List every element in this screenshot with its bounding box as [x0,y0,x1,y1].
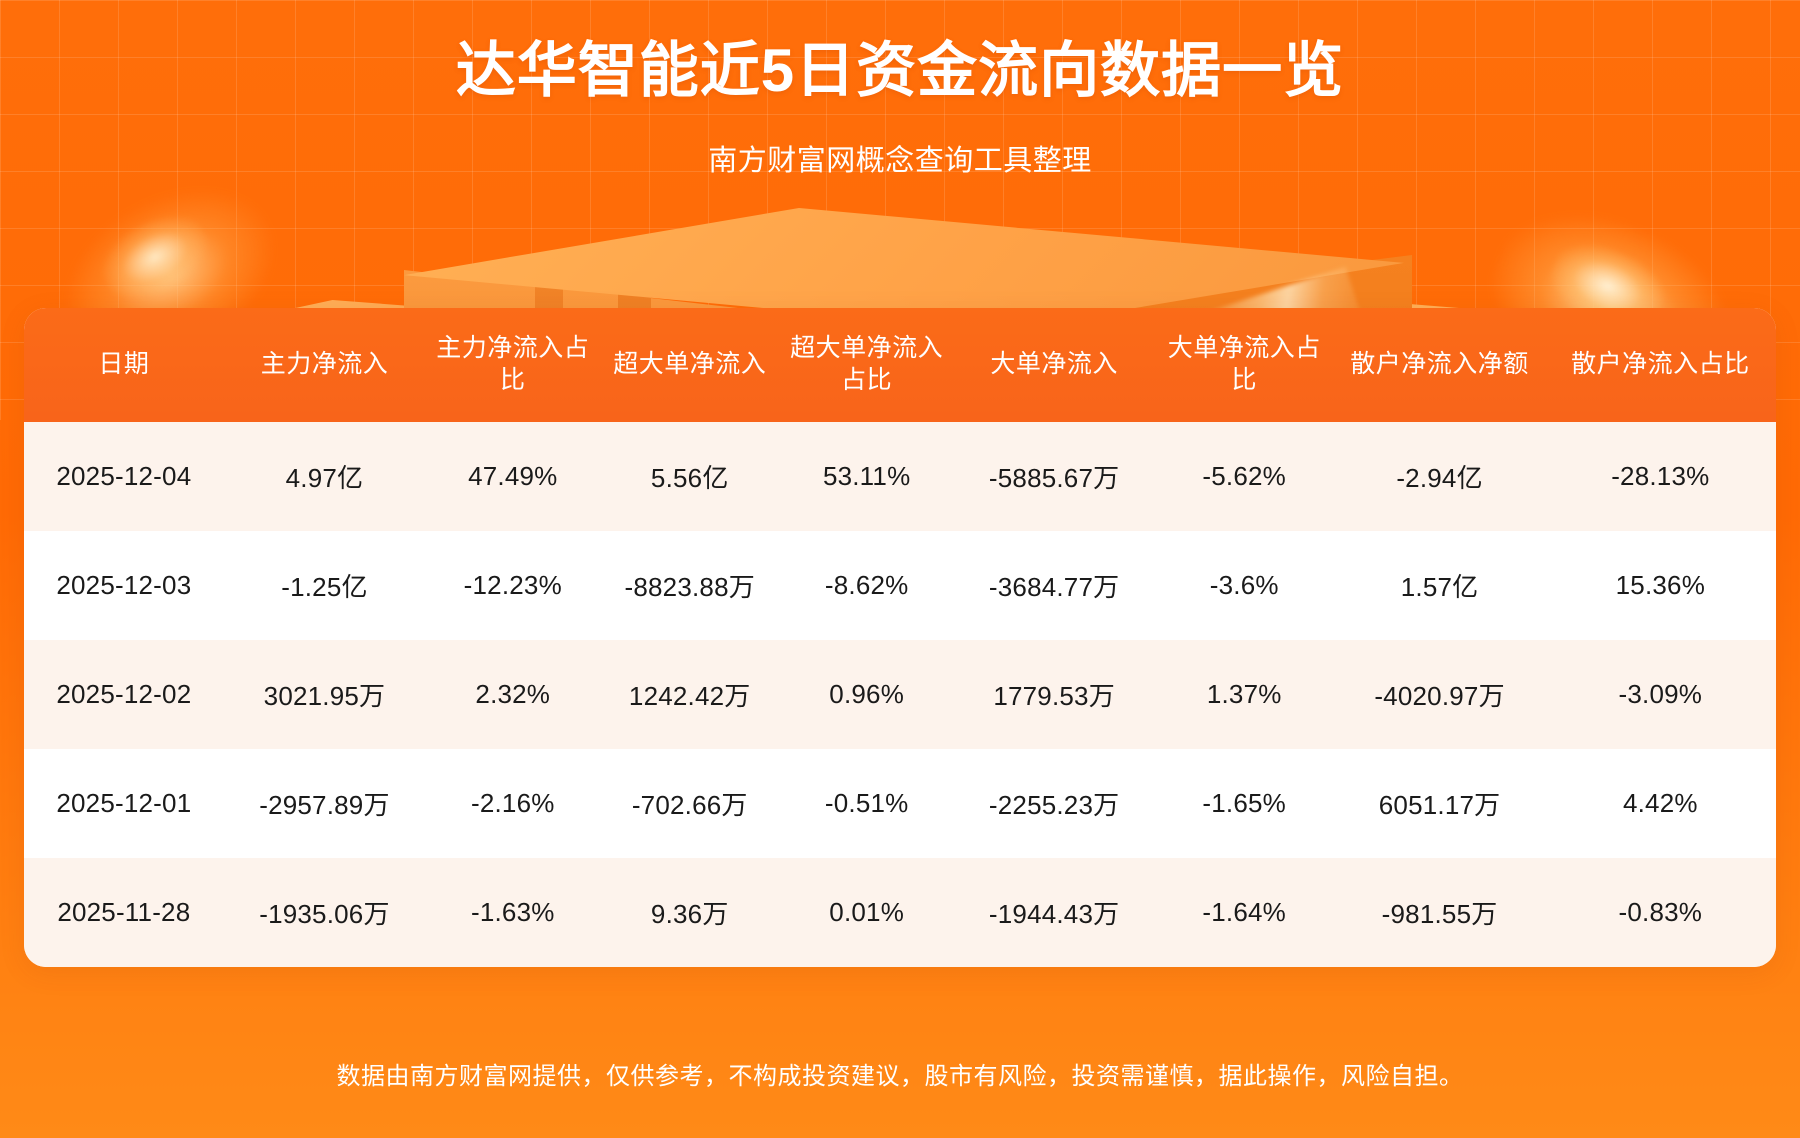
cell-large-net-inflow: -5885.67万 [954,422,1154,531]
cell-retail-net-inflow-amount: -4020.97万 [1334,640,1544,749]
table-row: 2025-12-04 4.97亿 47.49% 5.56亿 53.11% -58… [24,422,1776,531]
cell-retail-net-inflow-amount: 6051.17万 [1334,749,1544,858]
cell-extra-large-net-inflow: -8823.88万 [600,531,779,640]
page-subtitle: 南方财富网概念查询工具整理 [0,137,1800,179]
cell-retail-net-inflow-ratio: -3.09% [1545,640,1776,749]
disclaimer-text: 数据由南方财富网提供，仅供参考，不构成投资建议，股市有风险，投资需谨慎，据此操作… [337,1063,1464,1090]
cell-large-net-inflow-ratio: -3.6% [1154,531,1334,640]
cell-large-net-inflow-ratio: -1.64% [1154,858,1334,967]
column-header-retail-net-inflow-amount: 散户净流入净额 [1334,308,1544,422]
cell-main-net-inflow-ratio: 2.32% [425,640,600,749]
cell-date: 2025-12-01 [24,749,224,858]
cell-large-net-inflow: -2255.23万 [954,749,1154,858]
cell-large-net-inflow: 1779.53万 [954,640,1154,749]
cell-retail-net-inflow-amount: -2.94亿 [1334,422,1544,531]
cell-retail-net-inflow-ratio: 4.42% [1545,749,1776,858]
table-header: 日期 主力净流入 主力净流入占比 超大单净流入 超大单净流入占比 大单净流入 大… [24,308,1776,422]
footer-disclaimer: 数据由南方财富网提供，仅供参考，不构成投资建议，股市有风险，投资需谨慎，据此操作… [0,1056,1800,1091]
column-header-extra-large-order-net-inflow: 超大单净流入 [600,308,779,422]
cell-extra-large-net-inflow: 9.36万 [600,858,779,967]
cell-large-net-inflow-ratio: -1.65% [1154,749,1334,858]
page-title: 达华智能近5日资金流向数据一览 [0,34,1800,107]
cell-main-net-inflow: 4.97亿 [224,422,425,531]
column-header-large-order-net-inflow-ratio: 大单净流入占比 [1154,308,1334,422]
cell-extra-large-net-inflow-ratio: 53.11% [779,422,954,531]
cell-extra-large-net-inflow: 1242.42万 [600,640,779,749]
cell-retail-net-inflow-ratio: -0.83% [1545,858,1776,967]
cell-main-net-inflow: -1935.06万 [224,858,425,967]
banner-header: 达华智能近5日资金流向数据一览 南方财富网概念查询工具整理 [0,0,1800,179]
cell-main-net-inflow: -2957.89万 [224,749,425,858]
column-header-main-net-inflow-ratio: 主力净流入占比 [425,308,600,422]
cell-date: 2025-12-02 [24,640,224,749]
cell-large-net-inflow-ratio: -5.62% [1154,422,1334,531]
cell-main-net-inflow-ratio: 47.49% [425,422,600,531]
data-table-card: 南方财富网 outhmoney.com 日期 主力净流入 主力净流入占比 超大单… [24,308,1776,967]
table-header-row: 日期 主力净流入 主力净流入占比 超大单净流入 超大单净流入占比 大单净流入 大… [24,308,1776,422]
cell-extra-large-net-inflow: -702.66万 [600,749,779,858]
cell-date: 2025-12-03 [24,531,224,640]
cell-extra-large-net-inflow-ratio: 0.01% [779,858,954,967]
column-header-extra-large-order-net-inflow-ratio: 超大单净流入占比 [779,308,954,422]
cell-retail-net-inflow-ratio: -28.13% [1545,422,1776,531]
cell-large-net-inflow: -3684.77万 [954,531,1154,640]
cell-main-net-inflow: -1.25亿 [224,531,425,640]
table-row: 2025-12-01 -2957.89万 -2.16% -702.66万 -0.… [24,749,1776,858]
column-header-retail-net-inflow-ratio: 散户净流入占比 [1545,308,1776,422]
table-body: 2025-12-04 4.97亿 47.49% 5.56亿 53.11% -58… [24,422,1776,967]
cell-main-net-inflow: 3021.95万 [224,640,425,749]
cell-retail-net-inflow-amount: 1.57亿 [1334,531,1544,640]
cell-date: 2025-12-04 [24,422,224,531]
infographic-page: 达华智能近5日资金流向数据一览 南方财富网概念查询工具整理 南方财富网 outh… [0,0,1800,1138]
fund-flow-table: 日期 主力净流入 主力净流入占比 超大单净流入 超大单净流入占比 大单净流入 大… [24,308,1776,967]
table-row: 2025-12-03 -1.25亿 -12.23% -8823.88万 -8.6… [24,531,1776,640]
cell-extra-large-net-inflow-ratio: 0.96% [779,640,954,749]
cell-large-net-inflow: -1944.43万 [954,858,1154,967]
table-row: 2025-12-02 3021.95万 2.32% 1242.42万 0.96%… [24,640,1776,749]
column-header-large-order-net-inflow: 大单净流入 [954,308,1154,422]
cell-extra-large-net-inflow: 5.56亿 [600,422,779,531]
table-row: 2025-11-28 -1935.06万 -1.63% 9.36万 0.01% … [24,858,1776,967]
cell-main-net-inflow-ratio: -12.23% [425,531,600,640]
column-header-date: 日期 [24,308,224,422]
cell-large-net-inflow-ratio: 1.37% [1154,640,1334,749]
cell-extra-large-net-inflow-ratio: -8.62% [779,531,954,640]
column-header-main-net-inflow: 主力净流入 [224,308,425,422]
cell-extra-large-net-inflow-ratio: -0.51% [779,749,954,858]
cell-main-net-inflow-ratio: -2.16% [425,749,600,858]
cell-date: 2025-11-28 [24,858,224,967]
cell-retail-net-inflow-ratio: 15.36% [1545,531,1776,640]
cell-retail-net-inflow-amount: -981.55万 [1334,858,1544,967]
cell-main-net-inflow-ratio: -1.63% [425,858,600,967]
